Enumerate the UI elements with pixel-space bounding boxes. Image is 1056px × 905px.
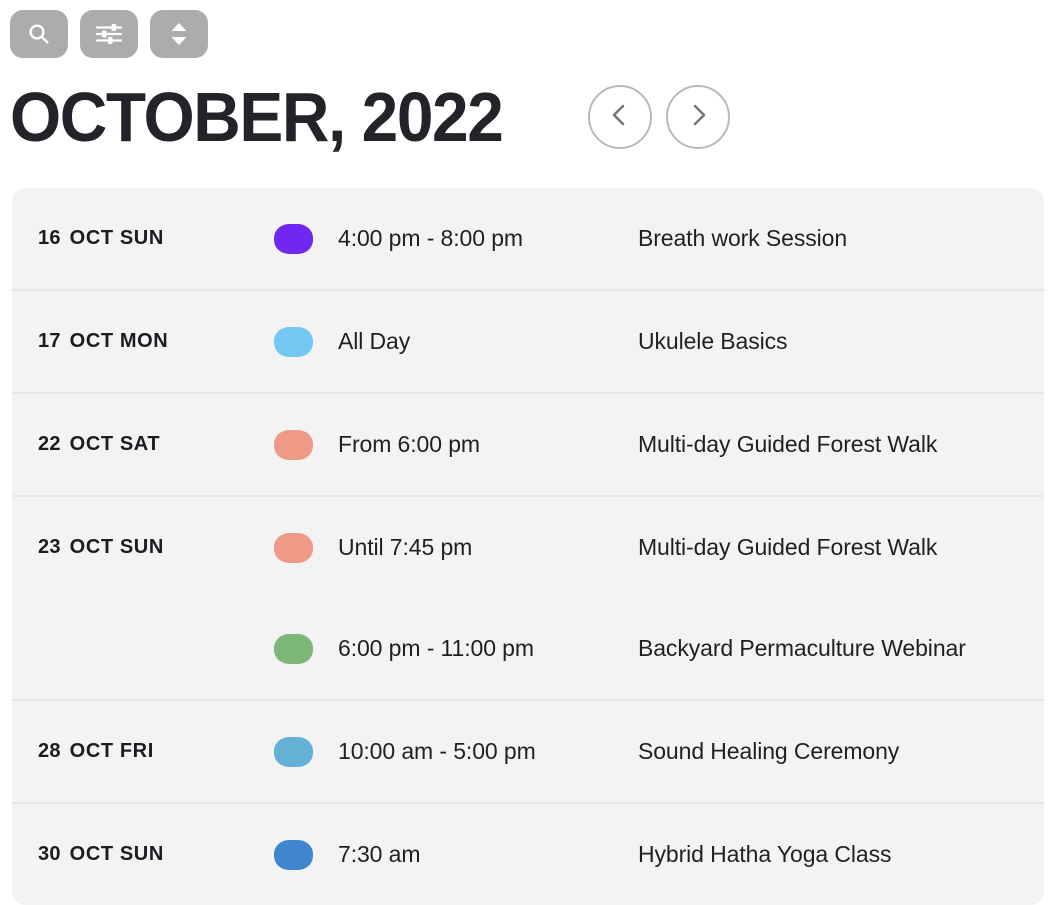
event-date: 16OCT SUN <box>12 227 274 250</box>
event-time: From 6:00 pm <box>338 431 638 458</box>
search-icon <box>26 21 52 47</box>
event-row[interactable]: 22OCT SATFrom 6:00 pmMulti-day Guided Fo… <box>12 394 1044 495</box>
event-time: Until 7:45 pm <box>338 534 638 561</box>
chevron-left-icon <box>609 102 631 133</box>
event-color-dot <box>274 224 313 254</box>
day-group: 22OCT SATFrom 6:00 pmMulti-day Guided Fo… <box>12 394 1044 497</box>
search-button[interactable] <box>10 10 68 58</box>
date-weekday-label: OCT SUN <box>70 536 164 559</box>
event-row[interactable]: 17OCT MONAll DayUkulele Basics <box>12 291 1044 392</box>
date-number: 16 <box>38 227 61 250</box>
event-time: All Day <box>338 328 638 355</box>
event-color-cell <box>274 327 338 357</box>
filter-button[interactable] <box>80 10 138 58</box>
day-group: 16OCT SUN4:00 pm - 8:00 pmBreath work Se… <box>12 188 1044 291</box>
date-number: 22 <box>38 433 61 456</box>
event-title[interactable]: Ukulele Basics <box>638 328 1044 355</box>
day-group: 17OCT MONAll DayUkulele Basics <box>12 291 1044 394</box>
event-color-dot <box>274 327 313 357</box>
event-color-cell <box>274 737 338 767</box>
event-color-dot <box>274 634 313 664</box>
calendar-page: OCTOBER, 2022 16OCT SUN4:00 pm - 8:00 pm… <box>0 0 1056 884</box>
event-color-cell <box>274 840 338 870</box>
day-group: 28OCT FRI10:00 am - 5:00 pmSound Healing… <box>12 701 1044 804</box>
event-row[interactable]: 23OCT SUNUntil 7:45 pmMulti-day Guided F… <box>12 497 1044 598</box>
toolbar <box>10 10 208 58</box>
event-date: 28OCT FRI <box>12 740 274 763</box>
chevron-right-icon <box>687 102 709 133</box>
event-time: 4:00 pm - 8:00 pm <box>338 225 638 252</box>
next-month-button[interactable] <box>666 85 730 149</box>
event-color-dot <box>274 840 313 870</box>
event-color-dot <box>274 737 313 767</box>
event-title[interactable]: Multi-day Guided Forest Walk <box>638 431 1044 458</box>
event-list: 16OCT SUN4:00 pm - 8:00 pmBreath work Se… <box>12 188 1044 905</box>
event-title[interactable]: Hybrid Hatha Yoga Class <box>638 841 1044 868</box>
event-color-cell <box>274 224 338 254</box>
event-date: 17OCT MON <box>12 330 274 353</box>
event-row[interactable]: 30OCT SUN7:30 amHybrid Hatha Yoga Class <box>12 804 1044 905</box>
event-date: 30OCT SUN <box>12 843 274 866</box>
calendar-header: OCTOBER, 2022 <box>10 74 730 160</box>
sort-button[interactable] <box>150 10 208 58</box>
event-color-cell <box>274 634 338 664</box>
month-nav <box>588 85 730 149</box>
filter-icon <box>94 21 124 47</box>
page-title: OCTOBER, 2022 <box>10 74 502 160</box>
date-number: 23 <box>38 536 61 559</box>
event-row[interactable]: 16OCT SUN4:00 pm - 8:00 pmBreath work Se… <box>12 188 1044 289</box>
event-date: 22OCT SAT <box>12 433 274 456</box>
event-time: 7:30 am <box>338 841 638 868</box>
event-title[interactable]: Breath work Session <box>638 225 1044 252</box>
event-color-cell <box>274 430 338 460</box>
date-weekday-label: OCT SAT <box>70 433 161 456</box>
date-weekday-label: OCT SUN <box>70 227 164 250</box>
event-color-cell <box>274 533 338 563</box>
date-weekday-label: OCT SUN <box>70 843 164 866</box>
date-weekday-label: OCT FRI <box>70 740 154 763</box>
date-number: 17 <box>38 330 61 353</box>
event-time: 6:00 pm - 11:00 pm <box>338 635 638 662</box>
event-title[interactable]: Backyard Permaculture Webinar <box>638 635 1044 662</box>
event-title[interactable]: Multi-day Guided Forest Walk <box>638 534 1044 561</box>
event-time: 10:00 am - 5:00 pm <box>338 738 638 765</box>
event-title[interactable]: Sound Healing Ceremony <box>638 738 1044 765</box>
prev-month-button[interactable] <box>588 85 652 149</box>
date-weekday-label: OCT MON <box>70 330 169 353</box>
date-number: 30 <box>38 843 61 866</box>
day-group: 30OCT SUN7:30 amHybrid Hatha Yoga Class <box>12 804 1044 905</box>
event-row[interactable]: 28OCT FRI10:00 am - 5:00 pmSound Healing… <box>12 701 1044 802</box>
event-color-dot <box>274 533 313 563</box>
date-number: 28 <box>38 740 61 763</box>
event-color-dot <box>274 430 313 460</box>
event-row[interactable]: 6:00 pm - 11:00 pmBackyard Permaculture … <box>12 598 1044 699</box>
sort-icon <box>168 20 190 48</box>
event-date: 23OCT SUN <box>12 536 274 559</box>
day-group: 23OCT SUNUntil 7:45 pmMulti-day Guided F… <box>12 497 1044 701</box>
